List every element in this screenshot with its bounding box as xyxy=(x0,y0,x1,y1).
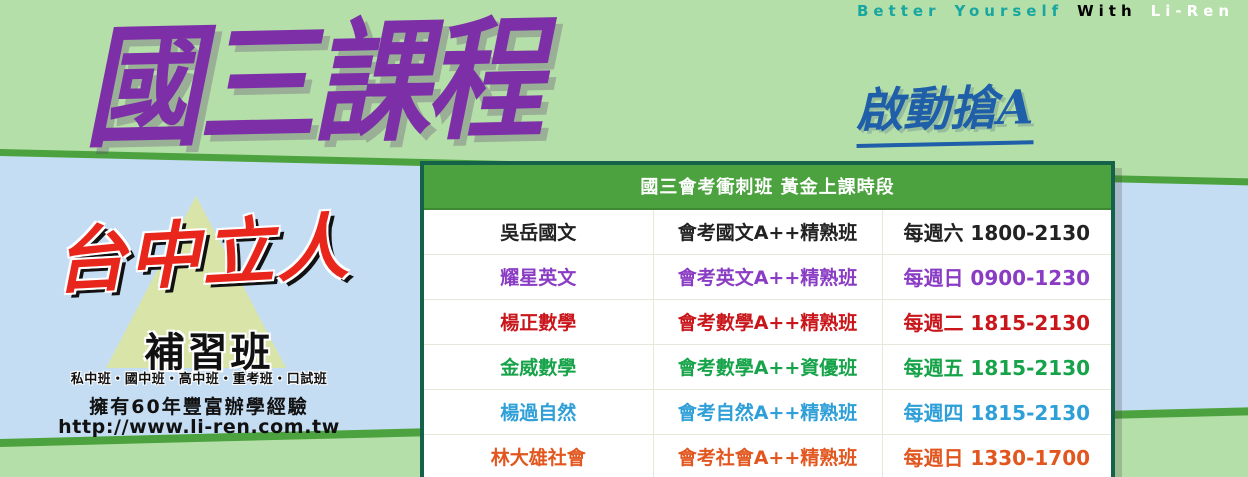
logo-brand-name: 台中立人 xyxy=(30,209,373,299)
table-row: 耀星英文會考英文A++精熟班每週日 0900-1230 xyxy=(424,254,1111,299)
schedule-cell-teacher: 楊正數學 xyxy=(424,299,653,344)
schedule-table: 國三會考衝刺班 黃金上課時段 吳岳國文會考國文A++精熟班每週六 1800-21… xyxy=(420,161,1115,477)
schedule-header-row: 國三會考衝刺班 黃金上課時段 xyxy=(424,165,1111,209)
table-row: 金威數學會考數學A++資優班每週五 1815-2130 xyxy=(424,344,1111,389)
logo: 台中立人 補習班 私中班・國中班・高中班・重考班・口試班 擁有60年豐富辦學經驗… xyxy=(24,196,374,426)
schedule-cell-course: 會考自然A++精熟班 xyxy=(653,389,882,434)
schedule-cell-teacher: 金威數學 xyxy=(424,344,653,389)
promo-banner: BetterYourselfWithLi-Ren 國三課程 啟動搶A 台中立人 … xyxy=(0,0,1248,477)
tagline-word-with: With xyxy=(1077,2,1137,20)
table-row: 林大雄社會會考社會A++精熟班每週日 1330-1700 xyxy=(424,434,1111,477)
schedule-header-title: 國三會考衝刺班 黃金上課時段 xyxy=(424,165,1111,209)
page-subtitle: 啟動搶A xyxy=(855,68,1034,148)
logo-course-types: 私中班・國中班・高中班・重考班・口試班 xyxy=(24,368,374,387)
tagline: BetterYourselfWithLi-Ren xyxy=(857,2,1234,20)
schedule-cell-teacher: 林大雄社會 xyxy=(424,434,653,477)
schedule-cell-time: 每週五 1815-2130 xyxy=(882,344,1111,389)
table-row: 楊正數學會考數學A++精熟班每週二 1815-2130 xyxy=(424,299,1111,344)
logo-website-url[interactable]: http://www.li-ren.com.tw xyxy=(24,416,374,438)
tagline-word-yourself: Yourself xyxy=(954,2,1063,20)
schedule-cell-course: 會考數學A++資優班 xyxy=(653,344,882,389)
schedule-cell-teacher: 吳岳國文 xyxy=(424,209,653,254)
schedule-cell-time: 每週日 0900-1230 xyxy=(882,254,1111,299)
schedule-cell-course: 會考數學A++精熟班 xyxy=(653,299,882,344)
page-title: 國三課程 xyxy=(82,7,541,159)
schedule-cell-time: 每週日 1330-1700 xyxy=(882,434,1111,477)
schedule-cell-course: 會考國文A++精熟班 xyxy=(653,209,882,254)
schedule-cell-teacher: 楊過自然 xyxy=(424,389,653,434)
schedule-cell-time: 每週四 1815-2130 xyxy=(882,389,1111,434)
schedule-cell-teacher: 耀星英文 xyxy=(424,254,653,299)
table-row: 楊過自然會考自然A++精熟班每週四 1815-2130 xyxy=(424,389,1111,434)
logo-experience-text: 擁有60年豐富辦學經驗 xyxy=(24,392,374,419)
tagline-word-liren: Li-Ren xyxy=(1151,2,1234,20)
table-row: 吳岳國文會考國文A++精熟班每週六 1800-2130 xyxy=(424,209,1111,254)
schedule-body: 吳岳國文會考國文A++精熟班每週六 1800-2130耀星英文會考英文A++精熟… xyxy=(424,209,1111,477)
schedule-cell-course: 會考社會A++精熟班 xyxy=(653,434,882,477)
schedule-cell-course: 會考英文A++精熟班 xyxy=(653,254,882,299)
schedule-cell-time: 每週二 1815-2130 xyxy=(882,299,1111,344)
schedule-cell-time: 每週六 1800-2130 xyxy=(882,209,1111,254)
tagline-word-better: Better xyxy=(857,2,941,20)
